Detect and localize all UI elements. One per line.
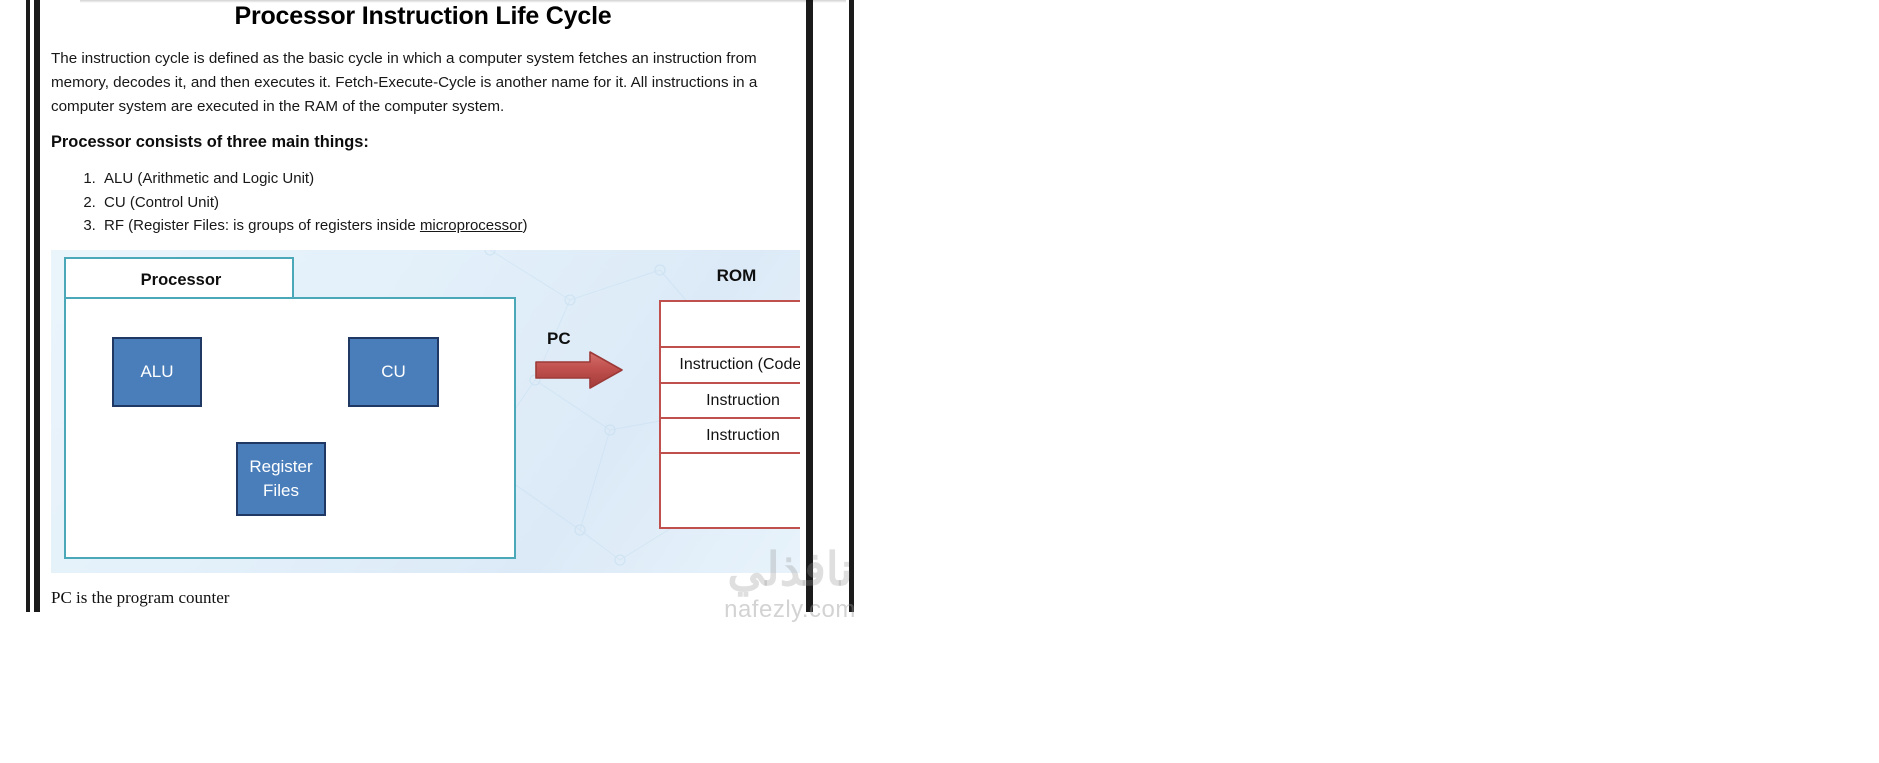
page-gutter-left-outer: [26, 0, 30, 612]
microprocessor-link[interactable]: microprocessor: [420, 217, 523, 234]
rom-label: ROM: [649, 266, 800, 286]
pc-label: PC: [547, 329, 571, 349]
register-files-line-1: Register: [249, 455, 312, 479]
list-item-prefix: RF (Register Files: is groups of registe…: [104, 217, 420, 234]
list-item: RF (Register Files: is groups of registe…: [100, 214, 527, 238]
rom-cell-instruction-2: Instruction: [659, 382, 800, 419]
list-item-suffix: ): [522, 217, 527, 234]
processor-diagram: Processor ALU CU Register Files PC: [51, 250, 800, 573]
pc-arrow-icon: [534, 350, 624, 390]
processor-title-box: Processor: [64, 257, 294, 302]
screenshot-stage: Processor Instruction Life Cycle The ins…: [0, 0, 1879, 763]
list-item-label: CU (Control Unit): [104, 194, 219, 211]
page-title: Processor Instruction Life Cycle: [40, 0, 806, 32]
trailing-note: PC is the program counter: [51, 588, 229, 608]
rom-cell-instruction-code: Instruction (Code): [659, 346, 800, 384]
cu-block: CU: [348, 337, 439, 407]
intro-paragraph: The instruction cycle is defined as the …: [51, 47, 783, 118]
rom-cell-empty-top: [659, 300, 800, 348]
page-gutter-right-outer: [806, 0, 813, 612]
processor-label: Processor: [66, 271, 296, 290]
list-item-label: ALU (Arithmetic and Logic Unit): [104, 170, 314, 187]
page-gutter-right-inner: [849, 0, 854, 612]
list-item: CU (Control Unit): [100, 191, 527, 215]
alu-block: ALU: [112, 337, 202, 407]
rom-memory-column: Instruction (Code) Instruction Instructi…: [659, 300, 800, 529]
rom-cell-instruction-3: Instruction: [659, 417, 800, 454]
register-files-line-2: Files: [263, 479, 299, 503]
rom-cell-empty-bottom: [659, 452, 800, 529]
document-page: Processor Instruction Life Cycle The ins…: [40, 0, 806, 763]
processor-parts-list: ALU (Arithmetic and Logic Unit) CU (Cont…: [51, 167, 527, 238]
register-files-block: Register Files: [236, 442, 326, 516]
sub-heading: Processor consists of three main things:: [51, 131, 369, 154]
list-item: ALU (Arithmetic and Logic Unit): [100, 167, 527, 191]
